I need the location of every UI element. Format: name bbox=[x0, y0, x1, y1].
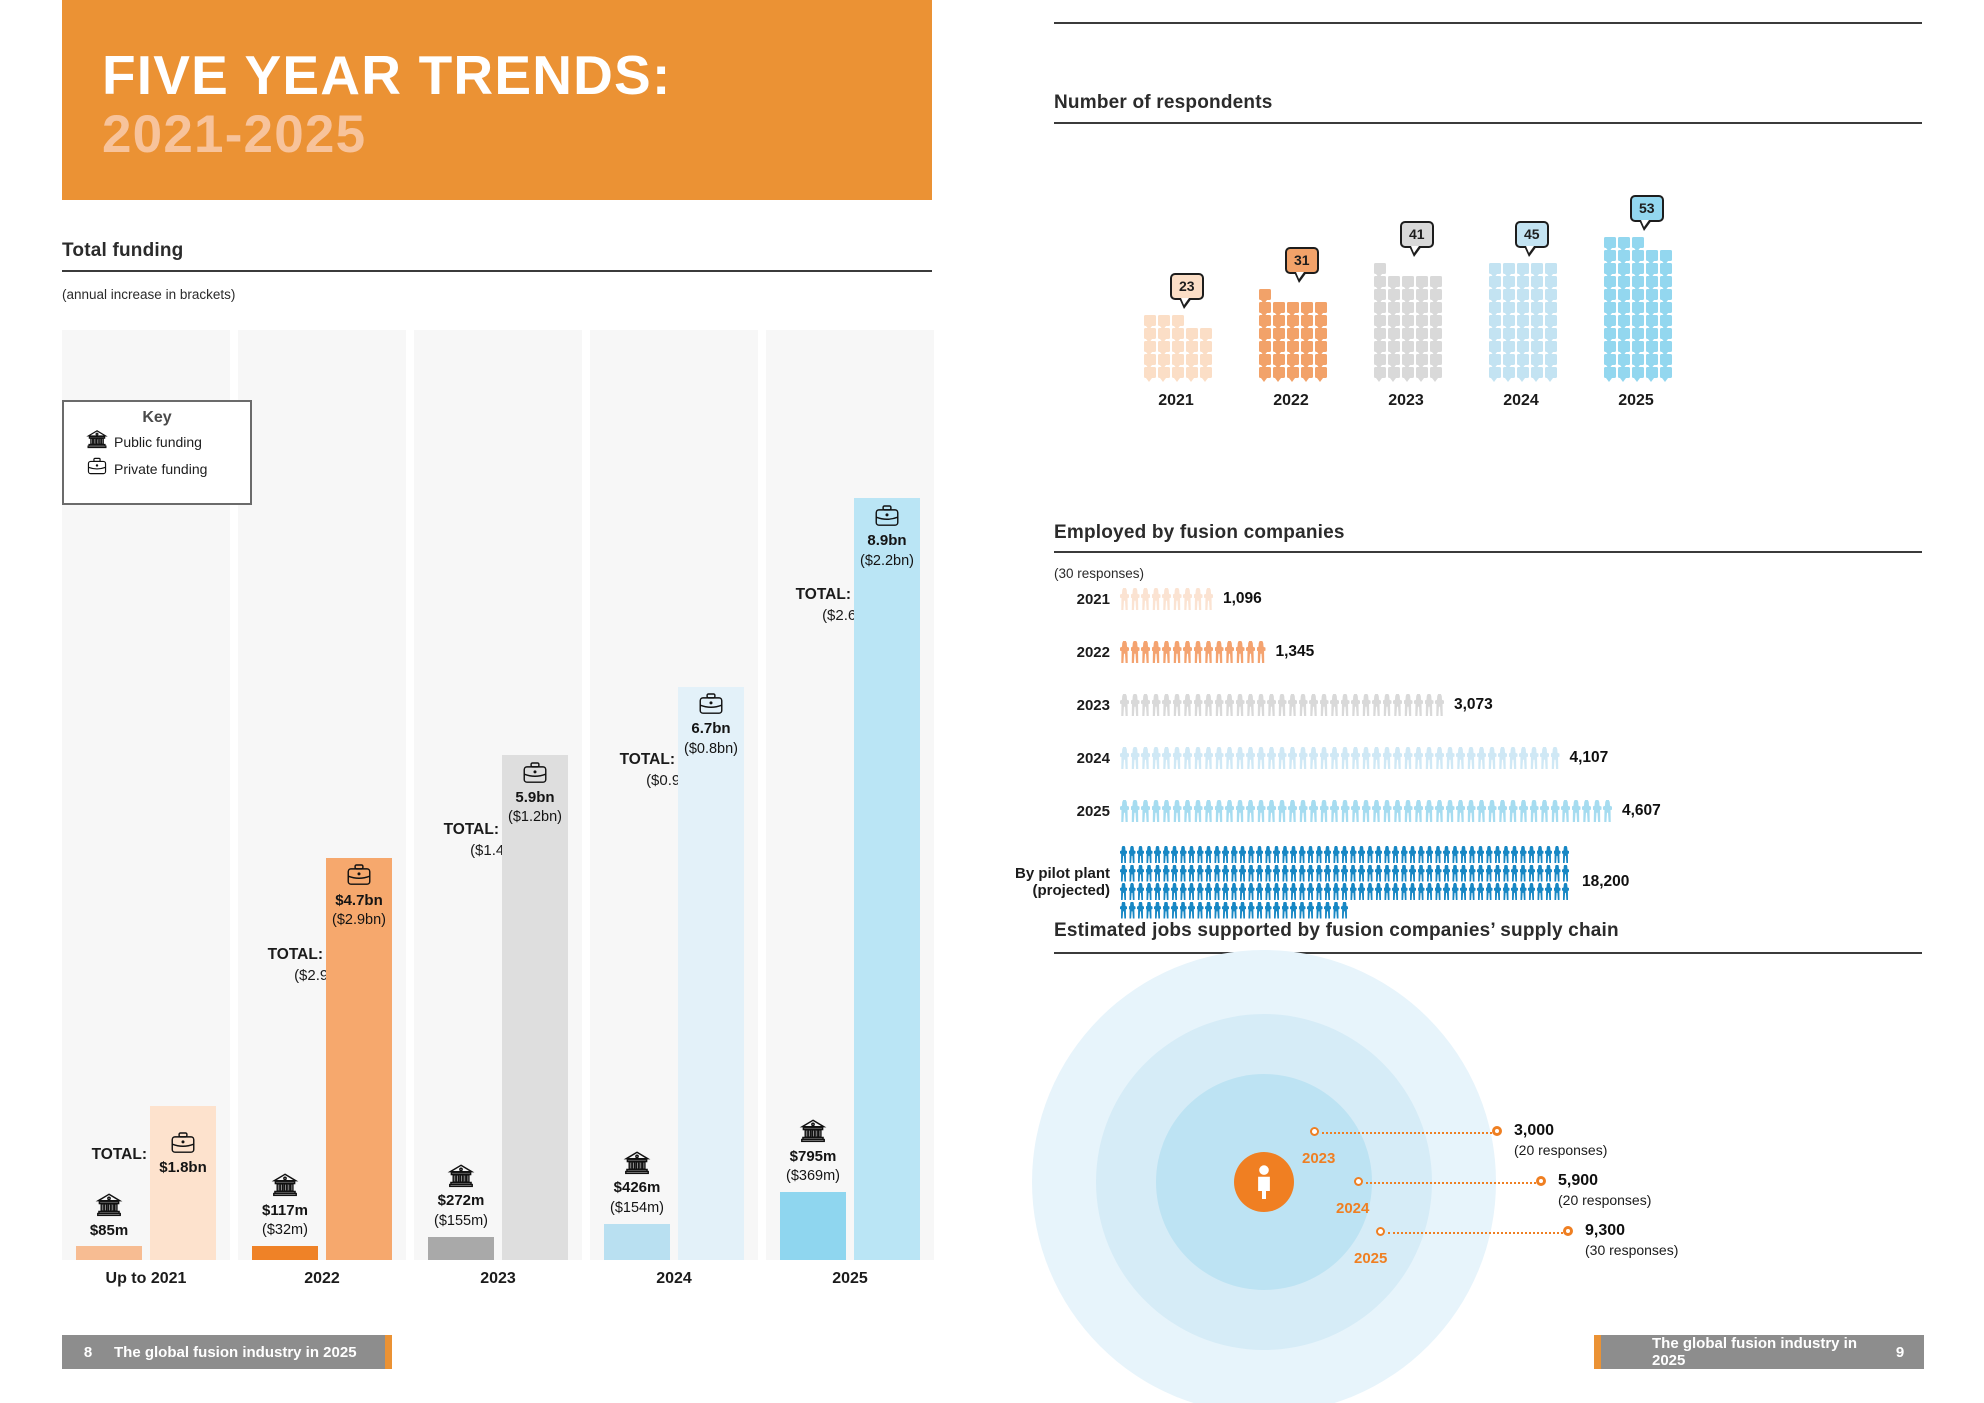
person-icon bbox=[1282, 902, 1289, 919]
person-icon bbox=[1288, 747, 1297, 769]
person-icon bbox=[1435, 800, 1444, 822]
person-icon bbox=[1129, 902, 1136, 919]
right-page: Number of respondents 232021312022412023… bbox=[992, 0, 1984, 1403]
person-icon bbox=[1129, 883, 1136, 900]
person-icon bbox=[1418, 846, 1425, 863]
person-icon bbox=[1205, 846, 1212, 863]
person-icon bbox=[1350, 846, 1357, 863]
person-icon bbox=[1204, 800, 1213, 822]
person-icon bbox=[1316, 902, 1323, 919]
x-axis-label: 2024 bbox=[1471, 392, 1571, 410]
person-icon bbox=[1282, 865, 1289, 882]
employed-note: (30 responses) bbox=[1054, 566, 1144, 581]
person-icon bbox=[1537, 846, 1544, 863]
person-icon bbox=[1215, 641, 1224, 663]
person-icon bbox=[1239, 865, 1246, 882]
person-icon bbox=[1435, 694, 1444, 716]
employed-value: 18,200 bbox=[1582, 873, 1629, 891]
person-icon bbox=[1131, 800, 1140, 822]
left-footer: 8 The global fusion industry in 2025 bbox=[62, 1335, 392, 1369]
person-icon bbox=[1333, 902, 1340, 919]
person-icon bbox=[1511, 846, 1518, 863]
person-icon bbox=[1460, 883, 1467, 900]
person-icon bbox=[1469, 865, 1476, 882]
person-icon bbox=[1183, 694, 1192, 716]
person-icon bbox=[1257, 747, 1266, 769]
person-icon bbox=[1154, 865, 1161, 882]
person-icon bbox=[1494, 846, 1501, 863]
person-icon bbox=[1194, 747, 1203, 769]
person-icon bbox=[1341, 747, 1350, 769]
key-row-public: Public funding bbox=[64, 427, 250, 454]
divider bbox=[1054, 122, 1922, 124]
leader-line bbox=[1388, 1232, 1563, 1234]
person-icon bbox=[1486, 865, 1493, 882]
person-icon bbox=[1358, 846, 1365, 863]
key-label-public: Public funding bbox=[114, 434, 202, 450]
footer-accent bbox=[1594, 1335, 1601, 1369]
speech-bubble-icon bbox=[1144, 315, 1156, 326]
speech-bubble-icon bbox=[1604, 237, 1616, 248]
private-funding-label: $1.8bn bbox=[124, 1130, 242, 1178]
speech-bubble-icon bbox=[1416, 276, 1428, 287]
person-icon bbox=[1239, 902, 1246, 919]
supply-chain-responses: (20 responses) bbox=[1558, 1192, 1651, 1208]
person-icon bbox=[1562, 846, 1569, 863]
person-icon bbox=[1162, 747, 1171, 769]
respondent-waffle-2024 bbox=[1489, 263, 1557, 440]
person-icon bbox=[1350, 883, 1357, 900]
person-icon bbox=[1324, 883, 1331, 900]
x-axis-label: 2024 bbox=[590, 1270, 758, 1288]
respondent-count-callout: 23 bbox=[1170, 273, 1204, 300]
person-icon bbox=[1141, 694, 1150, 716]
person-icon bbox=[1452, 883, 1459, 900]
person-icon bbox=[1129, 865, 1136, 882]
person-icon bbox=[1180, 846, 1187, 863]
person-icon bbox=[1197, 865, 1204, 882]
person-icon bbox=[1141, 588, 1150, 610]
person-icon bbox=[1131, 747, 1140, 769]
key-row-private: Private funding bbox=[64, 454, 250, 481]
person-icon bbox=[1256, 902, 1263, 919]
public-increase: ($154m) bbox=[610, 1200, 664, 1216]
respondent-count-callout: 31 bbox=[1285, 247, 1319, 274]
respondent-waffle-2021 bbox=[1144, 315, 1212, 440]
person-icon bbox=[1320, 747, 1329, 769]
person-icon bbox=[1367, 846, 1374, 863]
waffle-row bbox=[1259, 289, 1271, 300]
person-icon bbox=[1204, 747, 1213, 769]
x-axis-label: 2022 bbox=[1241, 392, 1341, 410]
person-icon bbox=[1341, 902, 1348, 919]
person-icon bbox=[1146, 865, 1153, 882]
person-icon bbox=[1307, 865, 1314, 882]
public-funding-label: $117m($32m) bbox=[226, 1172, 344, 1240]
person-icon bbox=[1443, 883, 1450, 900]
person-icon bbox=[1488, 747, 1497, 769]
person-icon bbox=[1290, 902, 1297, 919]
person-icon bbox=[1375, 883, 1382, 900]
person-icon bbox=[1290, 865, 1297, 882]
person-icon bbox=[1545, 883, 1552, 900]
person-icon bbox=[1330, 800, 1339, 822]
respondents-heading: Number of respondents bbox=[1054, 92, 1273, 114]
person-icon bbox=[1383, 747, 1392, 769]
supply-chain-year: 2025 bbox=[1354, 1250, 1387, 1267]
person-icon bbox=[1152, 588, 1161, 610]
person-icon bbox=[1188, 883, 1195, 900]
person-icon bbox=[1477, 800, 1486, 822]
person-icon bbox=[1163, 902, 1170, 919]
person-icon bbox=[1120, 846, 1127, 863]
speech-bubble-icon bbox=[1301, 302, 1313, 313]
leader-end-marker bbox=[1492, 1126, 1502, 1136]
person-icon bbox=[1120, 800, 1129, 822]
private-funding-label: $4.7bn($2.9bn) bbox=[300, 862, 418, 930]
employed-row: 20211,096 bbox=[992, 588, 1262, 610]
person-icon bbox=[1299, 883, 1306, 900]
supply-heading: Estimated jobs supported by fusion compa… bbox=[1054, 920, 1619, 942]
page-number: 8 bbox=[62, 1344, 114, 1361]
person-icon bbox=[1367, 883, 1374, 900]
chart-key: Key Public funding bbox=[62, 400, 252, 505]
person-icon bbox=[1418, 883, 1425, 900]
person-icon bbox=[1299, 902, 1306, 919]
person-icon bbox=[1171, 902, 1178, 919]
person-icon-group bbox=[1120, 800, 1612, 822]
person-icon bbox=[1467, 747, 1476, 769]
person-icon bbox=[1120, 865, 1127, 882]
speech-bubble-icon bbox=[1531, 263, 1543, 274]
leader-start-marker bbox=[1310, 1127, 1319, 1136]
person-icon bbox=[1554, 865, 1561, 882]
public-funding-bar bbox=[76, 1246, 142, 1260]
person-icon bbox=[1452, 865, 1459, 882]
person-icon bbox=[1530, 747, 1539, 769]
supply-chain-responses: (30 responses) bbox=[1585, 1242, 1678, 1258]
person-icon bbox=[1409, 865, 1416, 882]
person-icon bbox=[1180, 902, 1187, 919]
person-icon bbox=[1225, 800, 1234, 822]
leader-start-marker bbox=[1354, 1177, 1363, 1186]
person-icon bbox=[1194, 641, 1203, 663]
public-value: $426m bbox=[614, 1179, 661, 1196]
person-icon bbox=[1273, 902, 1280, 919]
person-icon bbox=[1528, 883, 1535, 900]
person-icon bbox=[1173, 694, 1182, 716]
person-icon bbox=[1299, 846, 1306, 863]
speech-bubble-icon bbox=[1489, 263, 1501, 274]
speech-bubble-icon bbox=[1259, 289, 1271, 300]
person-icon bbox=[1456, 747, 1465, 769]
person-icon bbox=[1425, 747, 1434, 769]
person-icon bbox=[1460, 846, 1467, 863]
person-icon bbox=[1265, 883, 1272, 900]
person-icon bbox=[1225, 694, 1234, 716]
public-increase: ($155m) bbox=[434, 1213, 488, 1229]
person-icon bbox=[1486, 846, 1493, 863]
person-icon bbox=[1392, 846, 1399, 863]
public-funding-label: $795m($369m) bbox=[754, 1118, 872, 1186]
row-label: 2021 bbox=[992, 591, 1120, 608]
person-icon bbox=[1197, 902, 1204, 919]
person-icon bbox=[1477, 846, 1484, 863]
person-icon bbox=[1222, 846, 1229, 863]
private-increase: ($0.8bn) bbox=[684, 741, 738, 757]
person-icon bbox=[1154, 846, 1161, 863]
row-label: 2024 bbox=[992, 750, 1120, 767]
funding-column-2025: TOTAL: $9.7bn($2.6bn) $795m($369m) 8.9bn… bbox=[766, 330, 934, 1260]
key-label-private: Private funding bbox=[114, 461, 207, 477]
person-icon bbox=[1236, 694, 1245, 716]
person-icon bbox=[1551, 800, 1560, 822]
person-icon bbox=[1404, 747, 1413, 769]
person-icon bbox=[1372, 800, 1381, 822]
total-funding-note: (annual increase in brackets) bbox=[62, 287, 235, 302]
person-icon bbox=[1162, 694, 1171, 716]
person-icon bbox=[1603, 800, 1612, 822]
person-icon bbox=[1528, 865, 1535, 882]
person-icon bbox=[1239, 846, 1246, 863]
private-value: $1.8bn bbox=[159, 1159, 207, 1176]
person-icon bbox=[1188, 865, 1195, 882]
person-icon bbox=[1188, 846, 1195, 863]
person-icon bbox=[1194, 588, 1203, 610]
person-icon bbox=[1120, 747, 1129, 769]
person-icon bbox=[1435, 846, 1442, 863]
speech-bubble-icon bbox=[1186, 328, 1198, 339]
person-icon-group bbox=[1120, 846, 1572, 919]
waffle-row bbox=[1144, 315, 1184, 326]
funding-column-2023: TOTAL: $6.2bn($1.4bn) $272m($155m) 5.9bn… bbox=[414, 330, 582, 1260]
person-icon bbox=[1520, 865, 1527, 882]
person-icon bbox=[1561, 800, 1570, 822]
x-axis-label: 2021 bbox=[1126, 392, 1226, 410]
person-icon bbox=[1350, 865, 1357, 882]
person-icon bbox=[1248, 902, 1255, 919]
person-icon bbox=[1246, 694, 1255, 716]
public-increase: ($369m) bbox=[786, 1168, 840, 1184]
person-icon bbox=[1503, 865, 1510, 882]
person-icon bbox=[1540, 800, 1549, 822]
private-funding-label: 5.9bn($1.2bn) bbox=[476, 760, 594, 828]
person-icon bbox=[1418, 865, 1425, 882]
public-increase: ($32m) bbox=[262, 1222, 308, 1238]
speech-bubble-icon bbox=[1287, 302, 1299, 313]
public-value: $85m bbox=[90, 1222, 128, 1239]
person-icon bbox=[1215, 747, 1224, 769]
divider-top bbox=[1054, 22, 1922, 24]
person-icon bbox=[1426, 846, 1433, 863]
speech-bubble-icon bbox=[1618, 237, 1630, 248]
person-icon bbox=[1351, 694, 1360, 716]
person-icon bbox=[1231, 883, 1238, 900]
person-icon bbox=[1375, 865, 1382, 882]
person-icon bbox=[1551, 747, 1560, 769]
person-icon bbox=[1435, 747, 1444, 769]
person-icon-group bbox=[1120, 694, 1444, 716]
footer-text: The global fusion industry in 2025 bbox=[1652, 1335, 1876, 1369]
person-icon bbox=[1225, 641, 1234, 663]
person-icon bbox=[1231, 846, 1238, 863]
person-icon-group bbox=[1120, 588, 1213, 610]
person-icon bbox=[1146, 846, 1153, 863]
left-page: FIVE YEAR TRENDS: 2021-2025 Total fundin… bbox=[0, 0, 992, 1403]
person-icon bbox=[1222, 883, 1229, 900]
person-icon bbox=[1152, 747, 1161, 769]
speech-bubble-icon bbox=[1158, 315, 1170, 326]
private-funding-label: 8.9bn($2.2bn) bbox=[828, 503, 946, 571]
person-icon bbox=[1204, 641, 1213, 663]
person-icon bbox=[1372, 747, 1381, 769]
private-value: 6.7bn bbox=[691, 720, 730, 737]
supply-chain-value: 9,300 bbox=[1585, 1222, 1625, 1240]
person-icon bbox=[1205, 883, 1212, 900]
person-icon bbox=[1519, 747, 1528, 769]
supply-chain-core bbox=[1234, 1152, 1294, 1212]
private-funding-label: 6.7bn($0.8bn) bbox=[652, 691, 770, 759]
person-icon bbox=[1171, 883, 1178, 900]
respondent-count-callout: 41 bbox=[1400, 221, 1434, 248]
person-icon bbox=[1152, 694, 1161, 716]
page-number: 9 bbox=[1876, 1344, 1924, 1361]
person-icon bbox=[1267, 747, 1276, 769]
person-icon bbox=[1163, 846, 1170, 863]
person-icon bbox=[1215, 800, 1224, 822]
respondent-count-callout: 53 bbox=[1630, 195, 1664, 222]
person-icon bbox=[1341, 883, 1348, 900]
person-icon bbox=[1443, 865, 1450, 882]
person-icon bbox=[1137, 865, 1144, 882]
person-icon bbox=[1520, 883, 1527, 900]
person-icon bbox=[1316, 883, 1323, 900]
person-icon bbox=[1163, 865, 1170, 882]
person-icon bbox=[1316, 865, 1323, 882]
waffle-row bbox=[1489, 263, 1557, 274]
person-icon bbox=[1320, 694, 1329, 716]
person-icon bbox=[1194, 800, 1203, 822]
person-icon bbox=[1290, 883, 1297, 900]
respondent-count-callout: 45 bbox=[1515, 221, 1549, 248]
person-icon bbox=[1488, 800, 1497, 822]
employed-row: 20254,607 bbox=[992, 800, 1661, 822]
person-icon bbox=[1316, 846, 1323, 863]
respondents-waffle-chart: 232021312022412023452024532025 bbox=[1054, 150, 1922, 440]
total-funding-heading: Total funding bbox=[62, 240, 184, 262]
person-icon bbox=[1469, 883, 1476, 900]
person-icon bbox=[1384, 883, 1391, 900]
person-icon bbox=[1425, 800, 1434, 822]
person-icon bbox=[1333, 883, 1340, 900]
person-icon bbox=[1519, 800, 1528, 822]
person-icon bbox=[1358, 883, 1365, 900]
person-icon bbox=[1509, 800, 1518, 822]
person-icon bbox=[1324, 902, 1331, 919]
person-icon bbox=[1426, 865, 1433, 882]
person-icon bbox=[1426, 883, 1433, 900]
person-icon bbox=[1509, 747, 1518, 769]
person-icon bbox=[1257, 694, 1266, 716]
person-icon bbox=[1341, 865, 1348, 882]
person-icon bbox=[1443, 846, 1450, 863]
supply-chain-responses: (20 responses) bbox=[1514, 1142, 1607, 1158]
person-icon bbox=[1129, 846, 1136, 863]
person-icon bbox=[1562, 883, 1569, 900]
person-icon bbox=[1520, 846, 1527, 863]
person-icon bbox=[1460, 865, 1467, 882]
person-icon bbox=[1393, 747, 1402, 769]
person-icon bbox=[1141, 747, 1150, 769]
person-icon bbox=[1404, 800, 1413, 822]
person-icon bbox=[1528, 846, 1535, 863]
waffle-row bbox=[1374, 276, 1442, 287]
speech-bubble-icon bbox=[1430, 276, 1442, 287]
leader-start-marker bbox=[1376, 1227, 1385, 1236]
employed-row: 20233,073 bbox=[992, 694, 1493, 716]
person-icon bbox=[1572, 800, 1581, 822]
person-icon bbox=[1141, 800, 1150, 822]
person-icon bbox=[1330, 747, 1339, 769]
supply-chain-year: 2024 bbox=[1336, 1200, 1369, 1217]
person-icon bbox=[1401, 883, 1408, 900]
person-icon bbox=[1409, 883, 1416, 900]
private-value: $4.7bn bbox=[335, 892, 383, 909]
person-icon bbox=[1248, 865, 1255, 882]
person-icon bbox=[1414, 800, 1423, 822]
employed-heading: Employed by fusion companies bbox=[1054, 522, 1345, 544]
employed-value: 1,096 bbox=[1223, 590, 1262, 608]
person-icon bbox=[1288, 694, 1297, 716]
person-icon bbox=[1267, 800, 1276, 822]
person-icon bbox=[1273, 883, 1280, 900]
person-icon bbox=[1435, 883, 1442, 900]
person-icon bbox=[1384, 846, 1391, 863]
person-icon bbox=[1362, 694, 1371, 716]
person-icon bbox=[1393, 800, 1402, 822]
person-icon bbox=[1146, 902, 1153, 919]
person-icon-group bbox=[1120, 641, 1266, 663]
funding-column-2022: TOTAL: $4.8bn($2.9bn) $117m($32m) $4.7bn… bbox=[238, 330, 406, 1260]
person-icon bbox=[1173, 800, 1182, 822]
person-icon bbox=[1171, 846, 1178, 863]
person-icon bbox=[1257, 641, 1266, 663]
person-icon bbox=[1545, 846, 1552, 863]
person-icon bbox=[1554, 846, 1561, 863]
person-icon bbox=[1254, 1165, 1274, 1199]
person-icon bbox=[1131, 694, 1140, 716]
person-icon bbox=[1197, 883, 1204, 900]
hero-banner: FIVE YEAR TRENDS: 2021-2025 bbox=[62, 0, 932, 200]
public-funding-bar bbox=[428, 1237, 494, 1260]
x-axis-label: 2023 bbox=[1356, 392, 1456, 410]
speech-bubble-icon bbox=[1273, 302, 1285, 313]
person-icon bbox=[1330, 694, 1339, 716]
row-label: 2023 bbox=[992, 697, 1120, 714]
person-icon bbox=[1152, 800, 1161, 822]
row-label: 2022 bbox=[992, 644, 1120, 661]
person-icon bbox=[1162, 800, 1171, 822]
person-icon bbox=[1299, 865, 1306, 882]
person-icon bbox=[1163, 883, 1170, 900]
x-axis-label: 2022 bbox=[238, 1270, 406, 1288]
person-icon bbox=[1205, 902, 1212, 919]
person-icon bbox=[1288, 800, 1297, 822]
employed-row: 20244,107 bbox=[992, 747, 1608, 769]
x-axis-label: 2025 bbox=[766, 1270, 934, 1288]
person-icon bbox=[1333, 846, 1340, 863]
person-icon bbox=[1452, 846, 1459, 863]
